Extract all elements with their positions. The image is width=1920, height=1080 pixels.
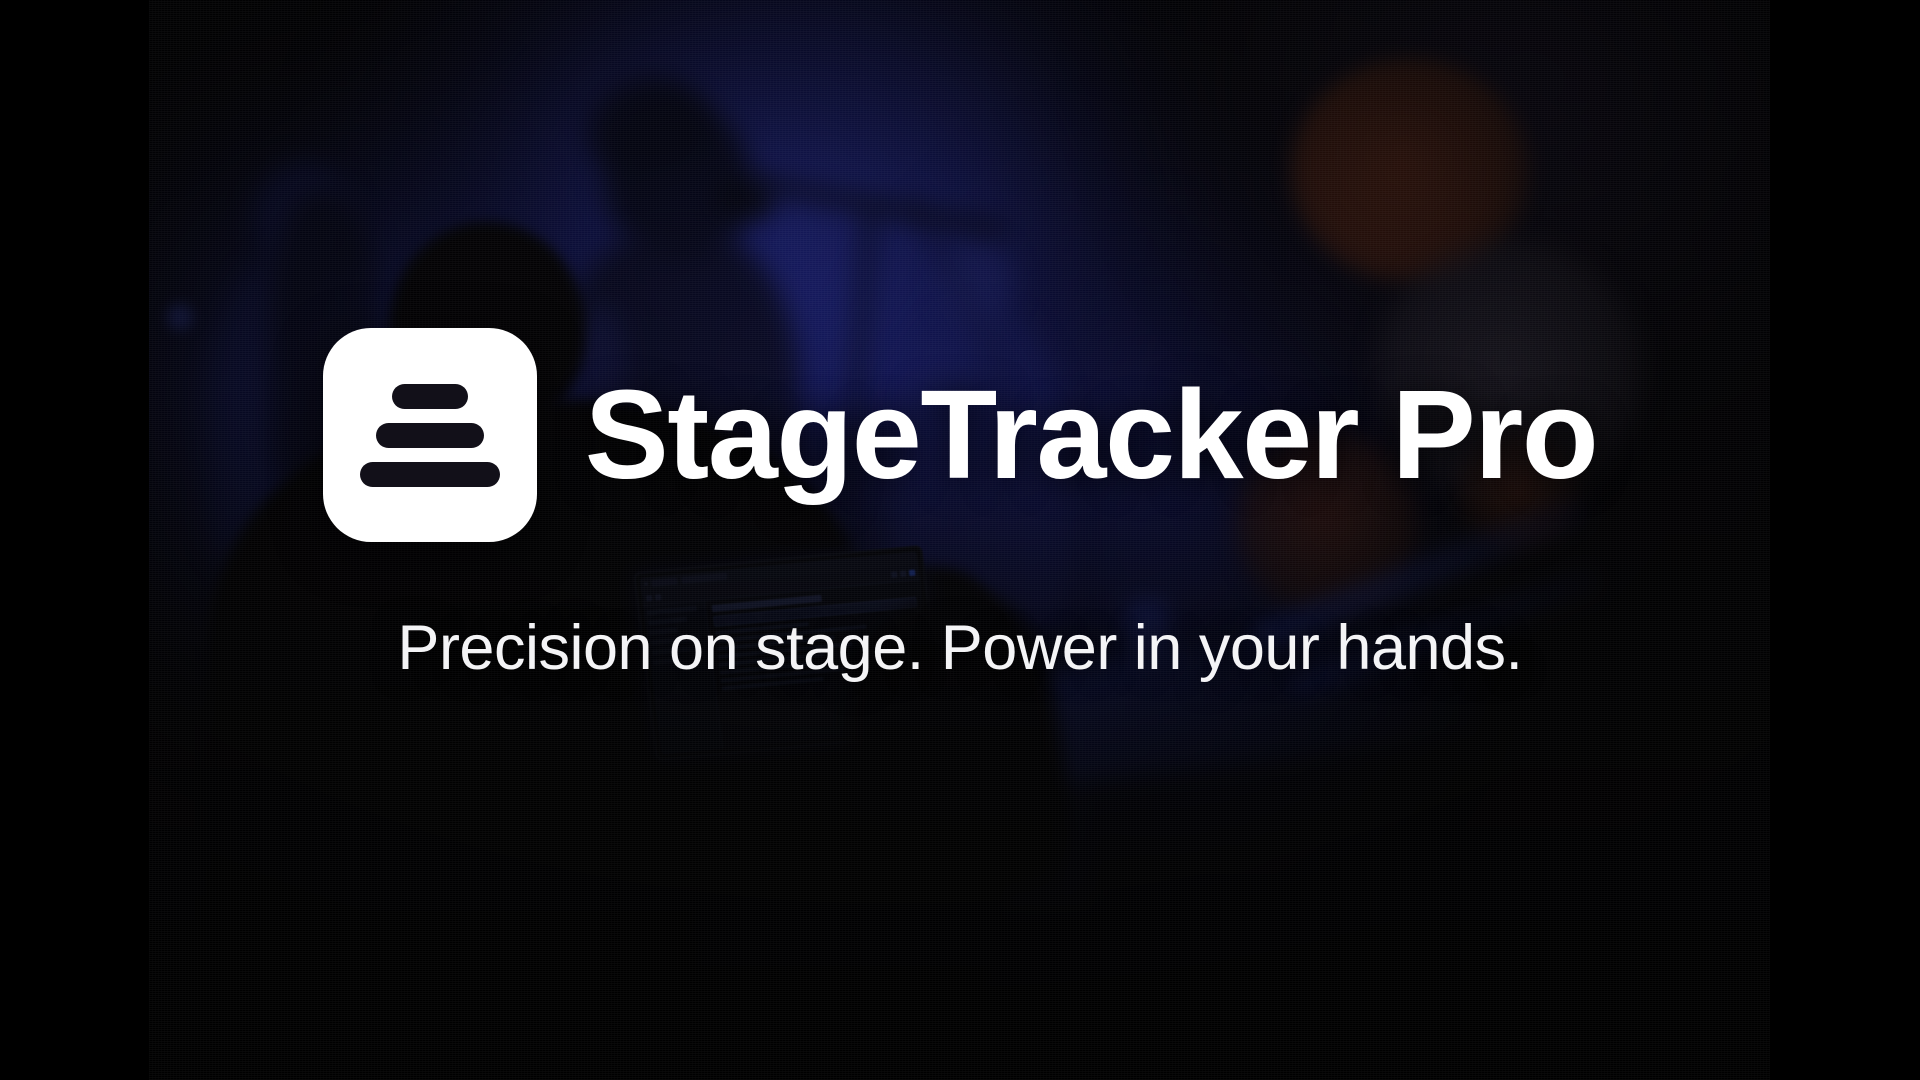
splash-screen: StageTracker Pro Precision on stage. Pow… bbox=[0, 0, 1920, 1080]
photo-grain-overlay bbox=[149, 0, 1770, 1080]
pillarbox-right bbox=[1770, 0, 1920, 1080]
pillarbox-left bbox=[0, 0, 149, 1080]
concert-photo-backdrop bbox=[149, 0, 1770, 1080]
